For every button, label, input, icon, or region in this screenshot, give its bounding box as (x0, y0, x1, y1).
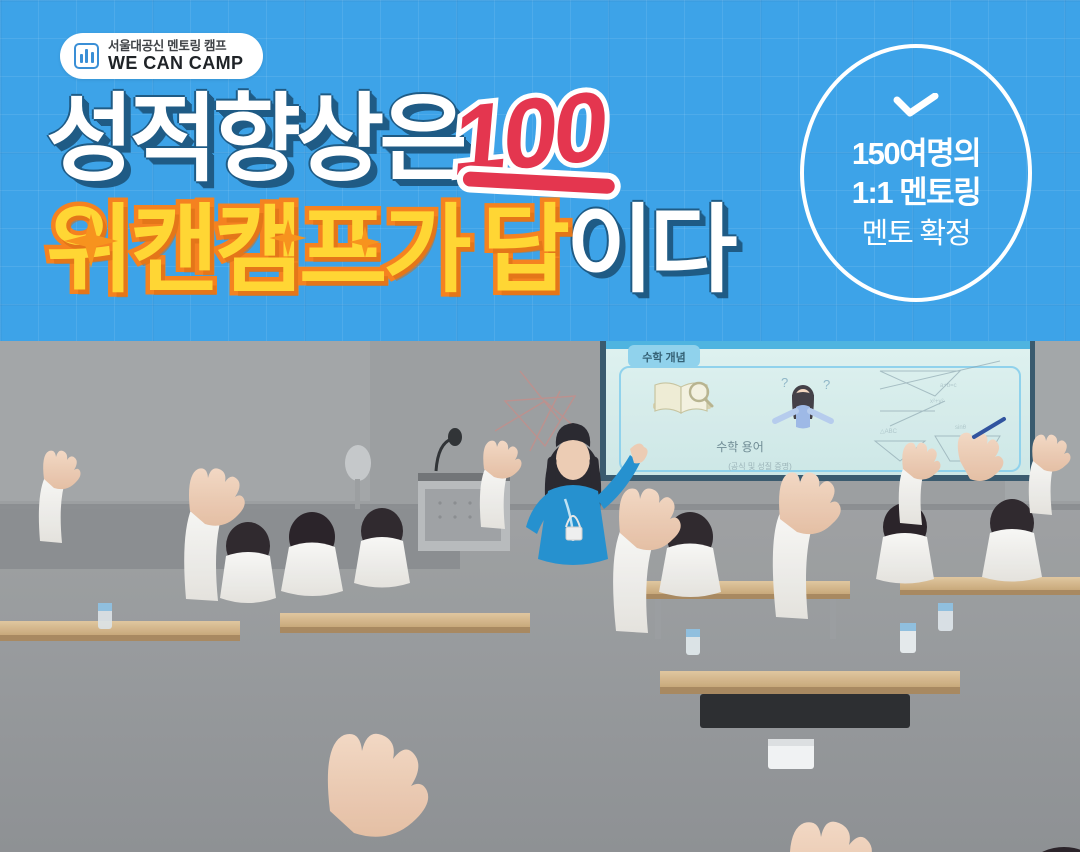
hundred-score-graphic: 100 (447, 76, 608, 189)
classroom-photo: 수학 개념 수학 용어 (공식 및 성질 증명) ? ? (0, 341, 1080, 852)
classroom-photo-illustration: 수학 개념 수학 용어 (공식 및 성질 증명) ? ? (0, 341, 1080, 852)
badge-line-1: 150여명의 (852, 136, 980, 173)
mentoring-highlight-badge: 150여명의 1:1 멘토링 멘토 확정 (800, 44, 1032, 302)
headline-line-1: 성적향상은 (46, 92, 463, 188)
badge-line-3: 멘토 확정 (862, 216, 971, 252)
header-banner: 서울대공신 멘토링 캠프 WE CAN CAMP 성적향상은 100 위캔캠프가… (0, 0, 1080, 341)
headline-line-2: 위캔캠프가 답 이다 (46, 203, 733, 299)
promo-banner-page: 서울대공신 멘토링 캠프 WE CAN CAMP 성적향상은 100 위캔캠프가… (0, 0, 1080, 852)
badge-line-2: 1:1 멘토링 (852, 175, 980, 212)
headline-suffix-word: 이다 (566, 203, 733, 299)
check-icon (893, 93, 939, 124)
headline-answer-word: 답 (482, 203, 566, 299)
headline-brand-word: 위캔캠프가 (46, 203, 468, 299)
headline-block: 성적향상은 100 위캔캠프가 답 이다 (0, 0, 790, 341)
